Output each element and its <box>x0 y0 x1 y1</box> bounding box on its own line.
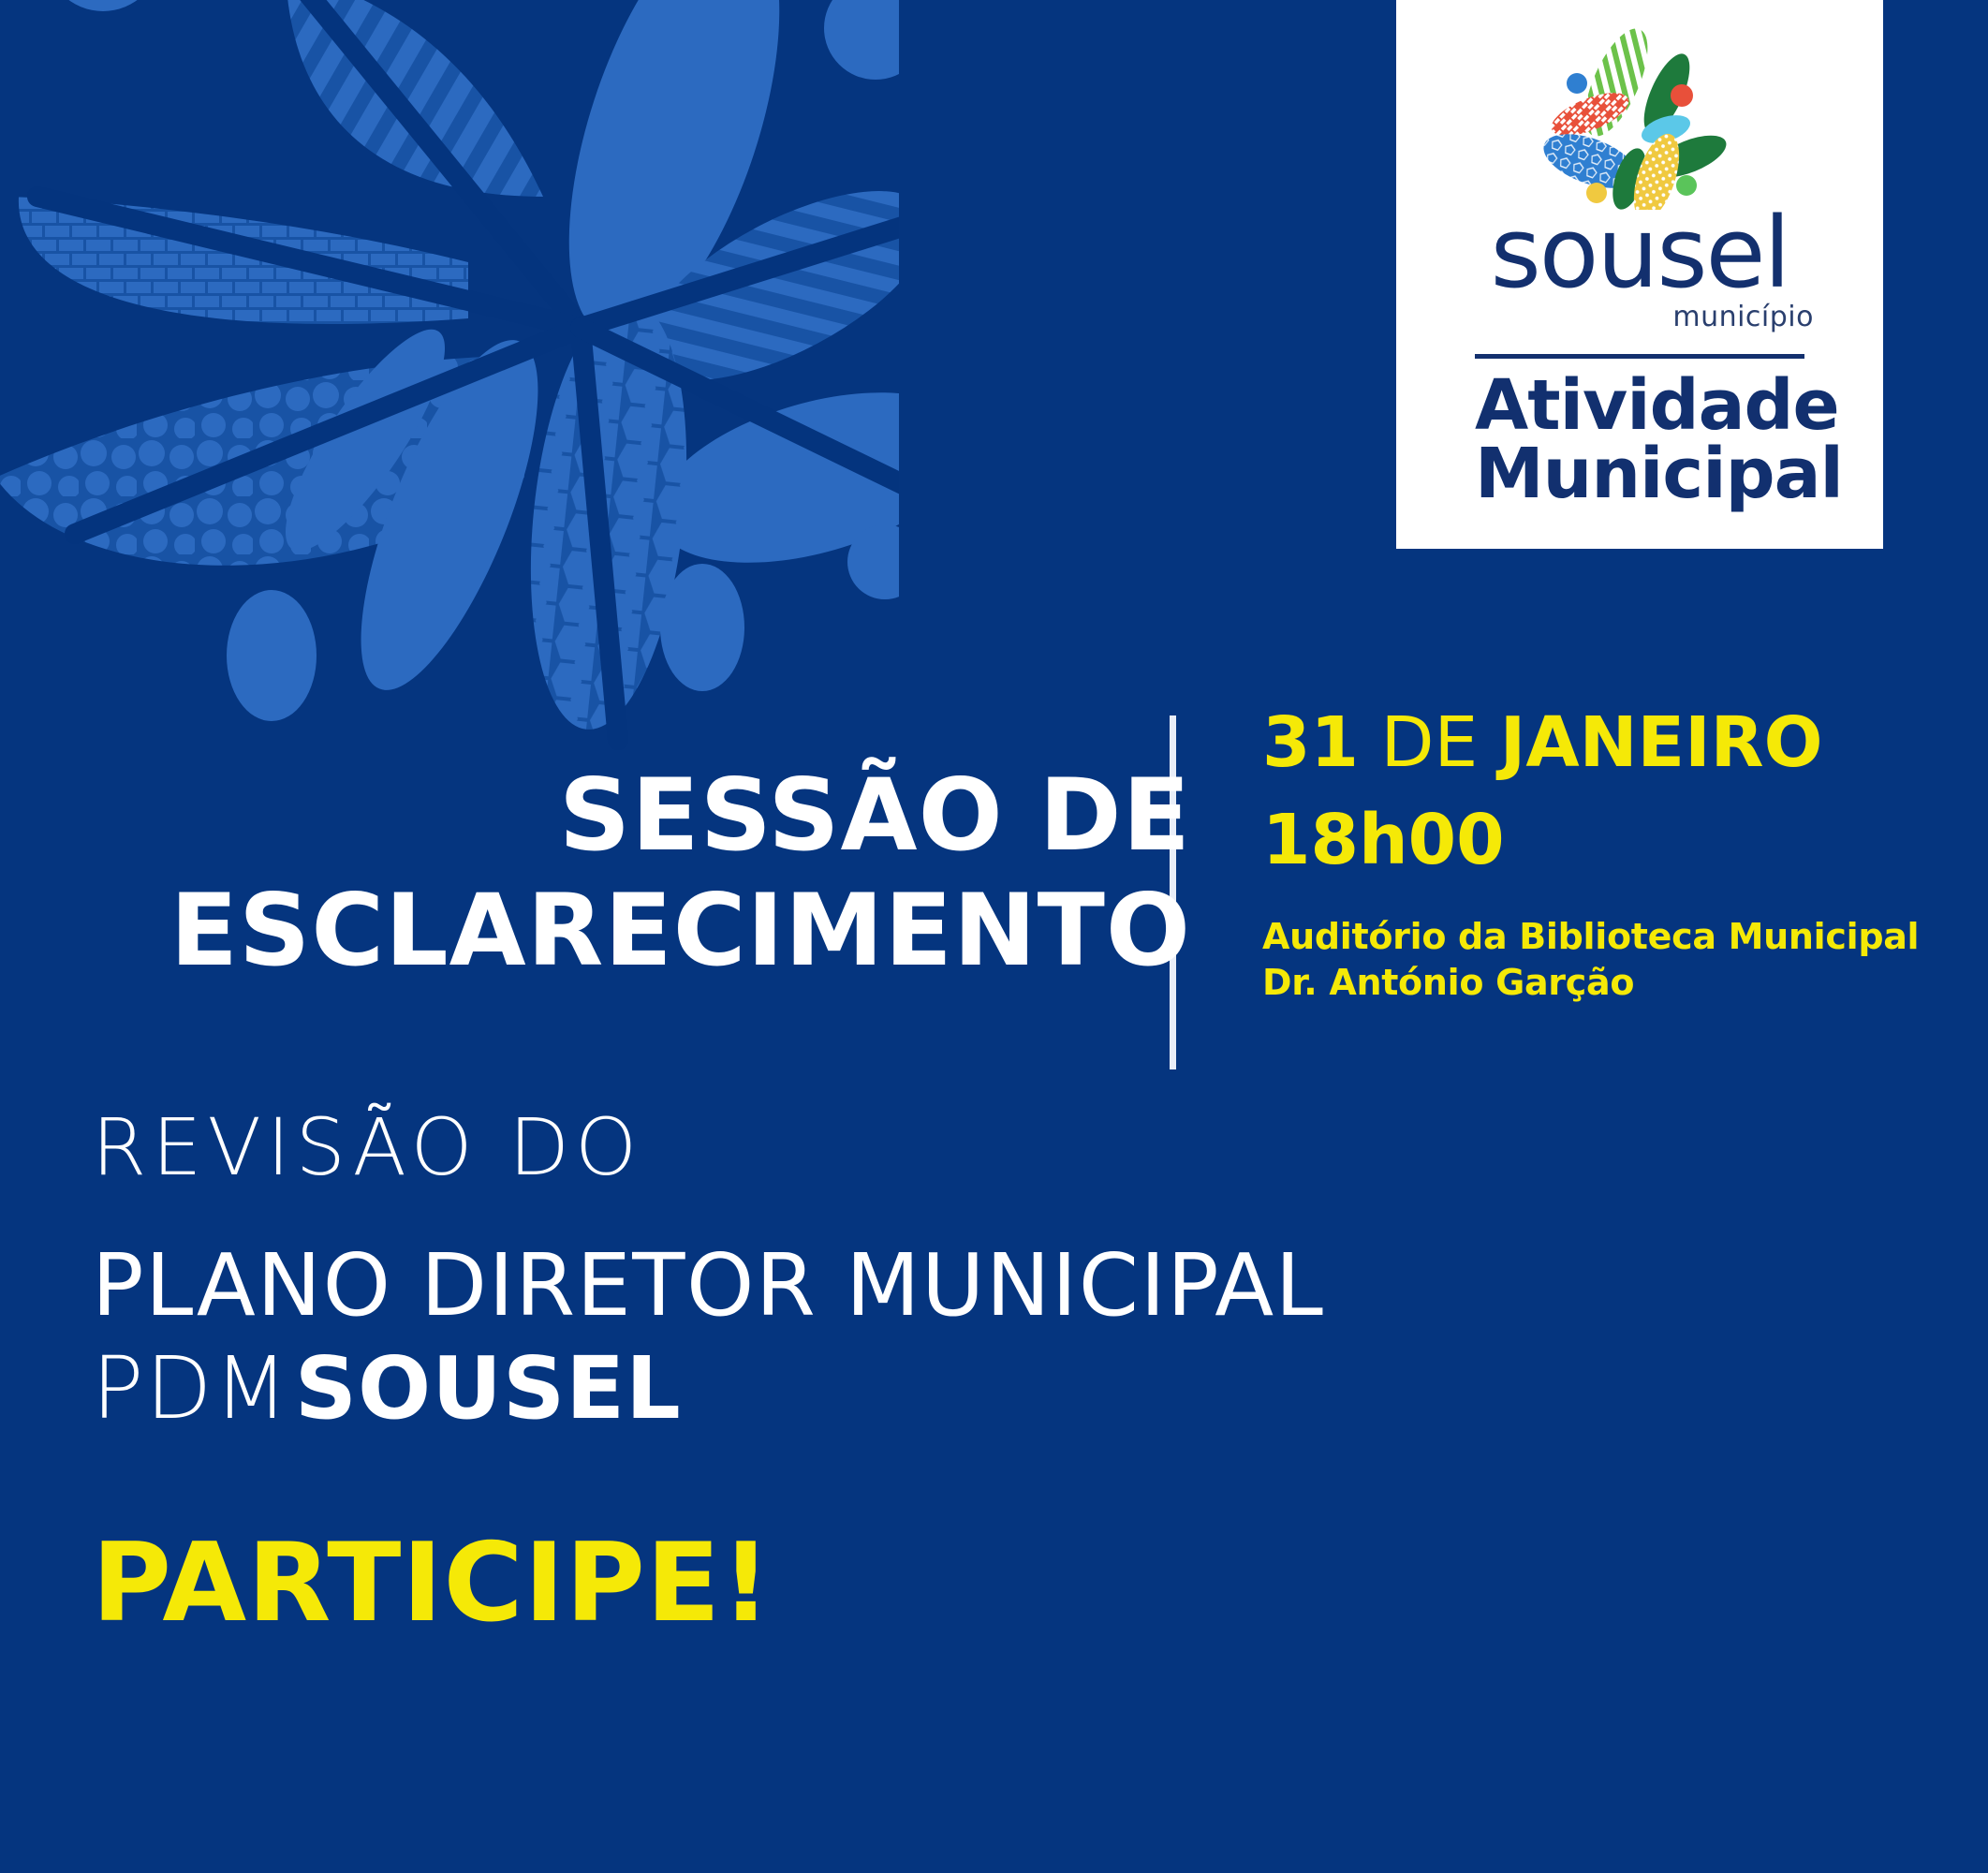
call-to-action: PARTICIPE! <box>92 1529 772 1638</box>
botanical-ornament-icon <box>0 0 899 759</box>
sousel-wordmark: sousel município <box>1452 204 1827 332</box>
page-title: SESSÃO DE ESCLARECIMENTO <box>0 759 1191 989</box>
event-venue-line-2: Dr. António Garção <box>1262 960 1974 1006</box>
event-date-day: 31 <box>1262 702 1359 783</box>
event-date: 31 DE JANEIRO <box>1262 707 1974 780</box>
sousel-leaf-emblem-icon <box>1532 24 1747 210</box>
headline-line-2: ESCLARECIMENTO <box>0 874 1191 989</box>
subject-line-1: REVISÃO DO <box>92 1103 1324 1191</box>
subject-line-3: PDM SOUSEL <box>92 1338 1324 1438</box>
sousel-logo-card: sousel município Atividade Municipal <box>1396 0 1883 549</box>
event-venue-line-1: Auditório da Biblioteca Municipal <box>1262 914 1974 960</box>
event-subject: REVISÃO DO PLANO DIRETOR MUNICIPAL PDM S… <box>92 1103 1324 1438</box>
event-details: 31 DE JANEIRO 18h00 Auditório da Bibliot… <box>1262 707 1974 1006</box>
subject-sousel-label: SOUSEL <box>295 1338 682 1438</box>
logo-divider-rule <box>1475 354 1804 359</box>
badge-title: Atividade Municipal <box>1475 372 1804 508</box>
subject-pdm-label: PDM <box>92 1338 290 1438</box>
subject-line-2: PLANO DIRETOR MUNICIPAL <box>92 1236 1324 1336</box>
headline-line-1: SESSÃO DE <box>0 759 1191 874</box>
event-date-connector: DE <box>1381 702 1479 783</box>
badge-line-2: Municipal <box>1475 434 1843 514</box>
event-date-month: JANEIRO <box>1500 702 1823 783</box>
wordmark-text: sousel <box>1452 204 1827 302</box>
event-time: 18h00 <box>1262 804 1974 878</box>
poster-canvas: sousel município Atividade Municipal SES… <box>0 0 1988 1873</box>
